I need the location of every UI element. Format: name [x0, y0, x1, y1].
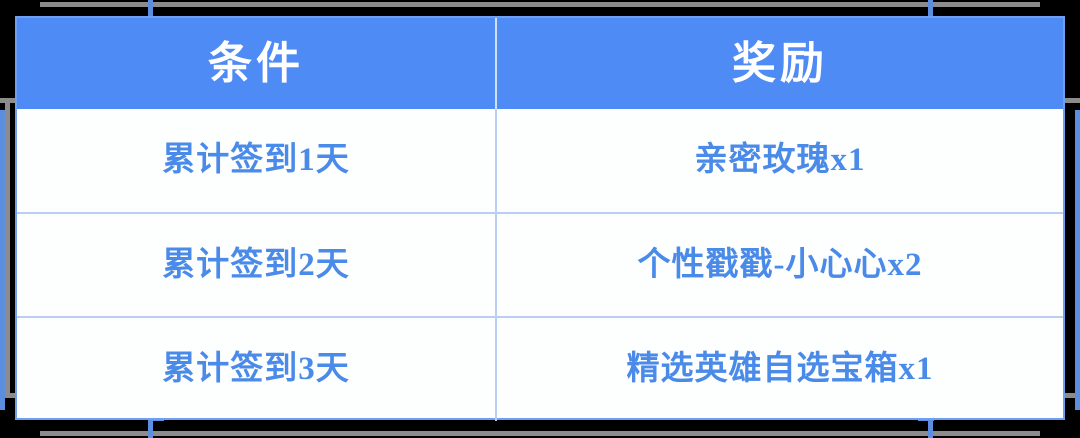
reward-table-body: 累计签到1天 亲密玫瑰x1 累计签到2天 个性戳戳-小心心x2 累计签到3天 精… [17, 109, 1063, 421]
frame-rail-top [150, 2, 1030, 7]
reward-table-head: 条件 奖励 [17, 18, 1063, 109]
cell-reward: 个性戳戳-小心心x2 [496, 213, 1063, 317]
column-header-condition: 条件 [17, 18, 496, 109]
table-row: 累计签到1天 亲密玫瑰x1 [17, 109, 1063, 213]
frame-accent-right [1075, 110, 1080, 410]
reward-table: 条件 奖励 累计签到1天 亲密玫瑰x1 累计签到2天 个性戳戳-小心心x2 累计… [17, 18, 1063, 421]
cell-reward: 精选英雄自选宝箱x1 [496, 317, 1063, 421]
frame-rail-bottom-right-segment [928, 431, 1040, 436]
frame-rail-bottom-left-segment [40, 431, 152, 436]
table-row: 累计签到3天 精选英雄自选宝箱x1 [17, 317, 1063, 421]
frame-accent-left [0, 110, 5, 410]
cell-reward: 亲密玫瑰x1 [496, 109, 1063, 213]
reward-table-card: 条件 奖励 累计签到1天 亲密玫瑰x1 累计签到2天 个性戳戳-小心心x2 累计… [15, 16, 1065, 420]
frame-rail-bottom [150, 431, 1030, 436]
cell-condition: 累计签到1天 [17, 109, 496, 213]
column-header-reward: 奖励 [496, 18, 1063, 109]
frame-rail-top-right-segment [928, 2, 1040, 7]
frame-rail-top-left-segment [40, 2, 152, 7]
reward-table-stage: 条件 奖励 累计签到1天 亲密玫瑰x1 累计签到2天 个性戳戳-小心心x2 累计… [0, 0, 1080, 438]
frame-rail-left [5, 98, 10, 398]
cell-condition: 累计签到2天 [17, 213, 496, 317]
cell-condition: 累计签到3天 [17, 317, 496, 421]
table-header-row: 条件 奖励 [17, 18, 1063, 109]
table-row: 累计签到2天 个性戳戳-小心心x2 [17, 213, 1063, 317]
